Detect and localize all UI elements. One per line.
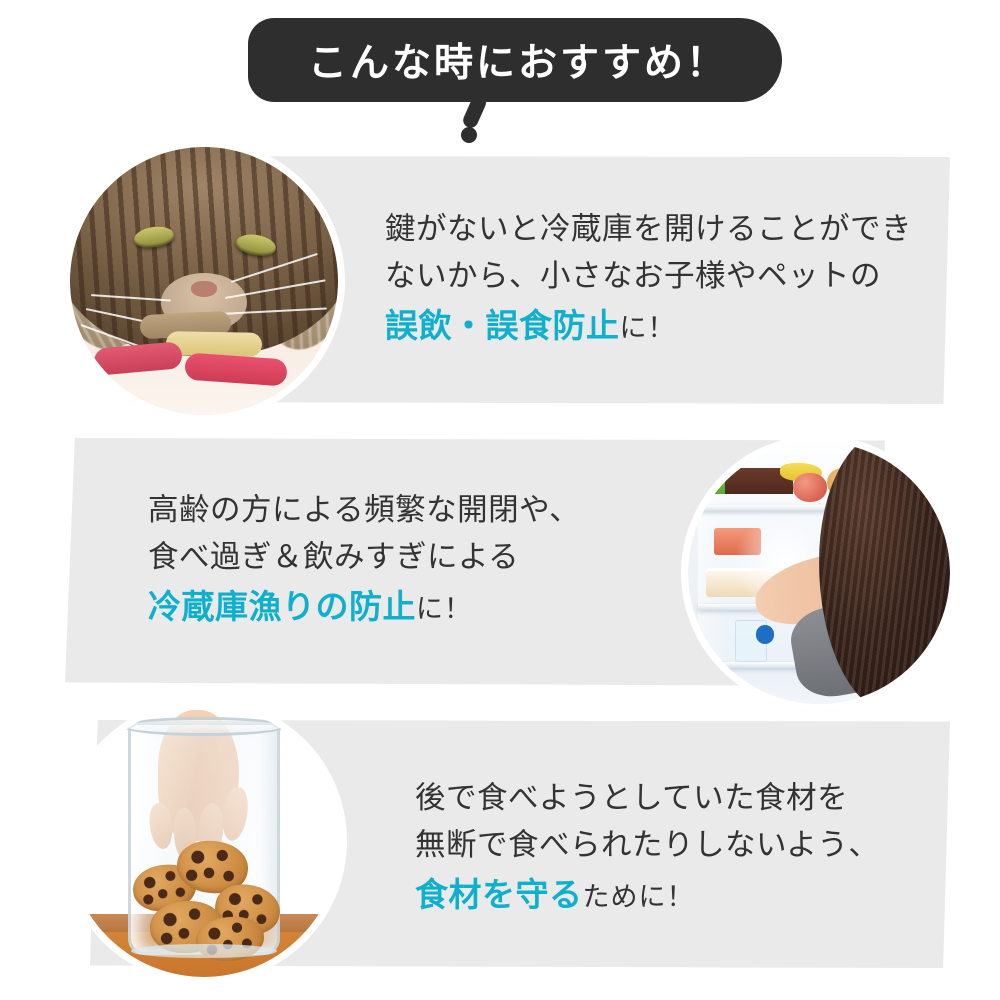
feature-highlight-text: 誤飲・誤食防止	[385, 307, 620, 344]
hand-reaching-cookie-jar-photo	[68, 705, 340, 977]
feature-highlight-line: 冷蔵庫漁りの防止に！	[148, 581, 708, 635]
woman-opening-refrigerator-photo	[688, 442, 950, 704]
badge-label: こんな時におすすめ！	[248, 18, 782, 102]
feature-line: 無断で食べられたりしないよう、	[415, 822, 935, 869]
woman-hair	[819, 442, 950, 704]
badge-tail-dot-icon	[461, 127, 477, 143]
feature-line: 鍵がないと冷蔵庫を開けることができ	[385, 206, 945, 253]
feature-line: 後で食べようとしていた食材を	[415, 775, 935, 822]
feature-highlight-line: 誤飲・誤食防止に！	[385, 300, 945, 354]
apple	[793, 473, 827, 502]
feature-highlight-line: 食材を守るために！	[415, 869, 935, 923]
feature-text-2: 高齢の方による頻繁な開閉や、 食べ過ぎ＆飲みすぎによる 冷蔵庫漁りの防止に！	[148, 487, 708, 635]
header-badge: こんな時におすすめ！	[248, 18, 782, 102]
feature-line: 高齢の方による頻繁な開閉や、	[148, 487, 708, 534]
feature-highlight-text: 冷蔵庫漁りの防止	[148, 588, 416, 625]
feature-highlight-tail: に！	[620, 313, 676, 343]
feature-text-3: 後で食べようとしていた食材を 無断で食べられたりしないよう、 食材を守るために！	[415, 775, 935, 923]
cat-eating-treats-photo	[70, 147, 338, 415]
feature-highlight-text: 食材を守る	[415, 876, 583, 913]
feature-line: 食べ過ぎ＆飲みすぎによる	[148, 534, 708, 581]
feature-line: ないから、小さなお子様やペットの	[385, 253, 945, 300]
feature-highlight-tail: に！	[416, 594, 472, 624]
promo-page: こんな時におすすめ！ 鍵がないと冷蔵庫を開けることが	[0, 0, 1000, 1000]
feature-highlight-tail: ために！	[583, 882, 695, 912]
feature-text-1: 鍵がないと冷蔵庫を開けることができ ないから、小さなお子様やペットの 誤飲・誤食…	[385, 206, 945, 354]
